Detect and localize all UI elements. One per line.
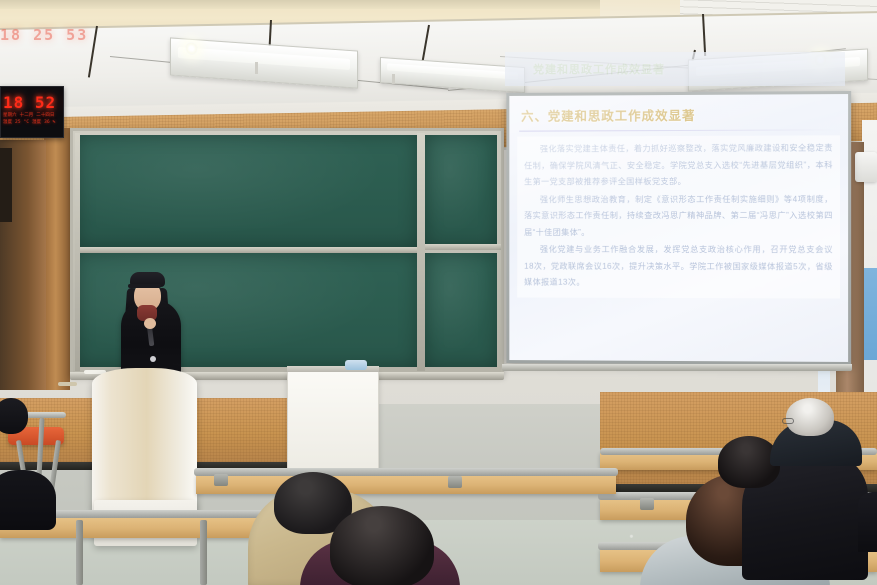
slide-paragraph: 强化师生思想政治教育，制定《意识形态工作责任制实施细则》等4项制度，落实意识形态… [524, 191, 833, 241]
desk-leg [76, 520, 83, 585]
audience-head [330, 506, 434, 585]
presenter-hand [144, 318, 156, 329]
audience-head [0, 398, 28, 434]
slide-body: 强化落实党建主体责任，着力抓好巡察整改，落实党风廉政建设和安全稳定责任制，确保学… [517, 135, 840, 298]
lectern [92, 368, 197, 513]
wall-recess-left [0, 148, 12, 222]
lecture-hall-photo: 18 25 53 18 52 23 星期六 十二月 二十四日 温度 25 °C … [0, 0, 877, 585]
chalkboard-horizontal-rail-right [423, 244, 501, 250]
projection-screen-bottom-bar [502, 364, 852, 371]
lectern-handle [58, 382, 77, 386]
wall-mounted-projector [855, 152, 877, 182]
audience-body [858, 492, 877, 552]
presenter-beret-brim [128, 284, 161, 288]
wall-pillar-left [44, 128, 70, 390]
audience-body [0, 470, 56, 530]
chalkboard-panel-lower-right [425, 253, 497, 367]
projection-screen-top-reflection: 党建和思政工作成效显著 [505, 52, 845, 86]
lamp-stem [392, 74, 395, 84]
slide-paragraph: 强化落实党建主体责任，着力抓好巡察整改，落实党风廉政建设和安全稳定责任制，确保学… [524, 140, 833, 190]
projection-screen: 六、党建和思政工作成效显著 强化落实党建主体责任，着力抓好巡察整改，落实党风廉政… [506, 91, 851, 365]
object-on-cabinet [345, 360, 367, 370]
led-clock-reflection: 18 25 53 [0, 26, 80, 52]
chalkboard-horizontal-rail [75, 247, 421, 253]
chalkboard-panel-upper-left [77, 135, 417, 247]
slide-title: 六、党建和思政工作成效显著 [517, 100, 840, 130]
light-glow [185, 41, 198, 55]
led-clock-time: 18 52 23 [1, 87, 63, 112]
eyeglasses-icon [782, 418, 794, 424]
chalkboard-left-edge [75, 133, 80, 371]
desk-clamp [448, 476, 462, 488]
desk-edge [194, 468, 618, 476]
audience-head [786, 398, 834, 436]
chalkboard-panel-upper-right [425, 135, 497, 247]
presenter-coat-button [150, 356, 156, 362]
blue-wall-panel [862, 268, 877, 360]
ghost-banner-text: 党建和思政工作成效显著 [505, 52, 845, 77]
orange-chair-armrest [22, 412, 66, 418]
projection-screen-surface: 六、党建和思政工作成效显著 强化落实党建主体责任，着力抓好巡察整改，落实党风廉政… [509, 94, 848, 362]
slide-paragraph: 强化党建与业务工作融合发展，发挥党总支政治核心作用，召开党总支会议18次，党政联… [524, 242, 833, 292]
side-cabinet [287, 370, 379, 482]
light-tube [387, 64, 519, 80]
lamp-stem [255, 62, 258, 74]
desk-row-centre [196, 474, 616, 494]
desk-leg [200, 520, 207, 585]
light-tube [178, 47, 349, 70]
wall-led-clock: 18 52 23 星期六 十二月 二十四日 温度 25 °C 湿度 36 % [0, 86, 64, 138]
desk-clamp [214, 474, 228, 486]
led-clock-date-line: 星期六 十二月 二十四日 [1, 112, 63, 119]
presentation-slide: 六、党建和思政工作成效显著 强化落实党建主体责任，着力抓好巡察整改，落实党风廉政… [509, 94, 848, 362]
slide-title-underline [519, 129, 838, 131]
led-clock-env-line: 温度 25 °C 湿度 36 % [1, 119, 63, 126]
desk-clamp [640, 498, 654, 510]
chalkboard-vertical-divider [417, 133, 425, 371]
